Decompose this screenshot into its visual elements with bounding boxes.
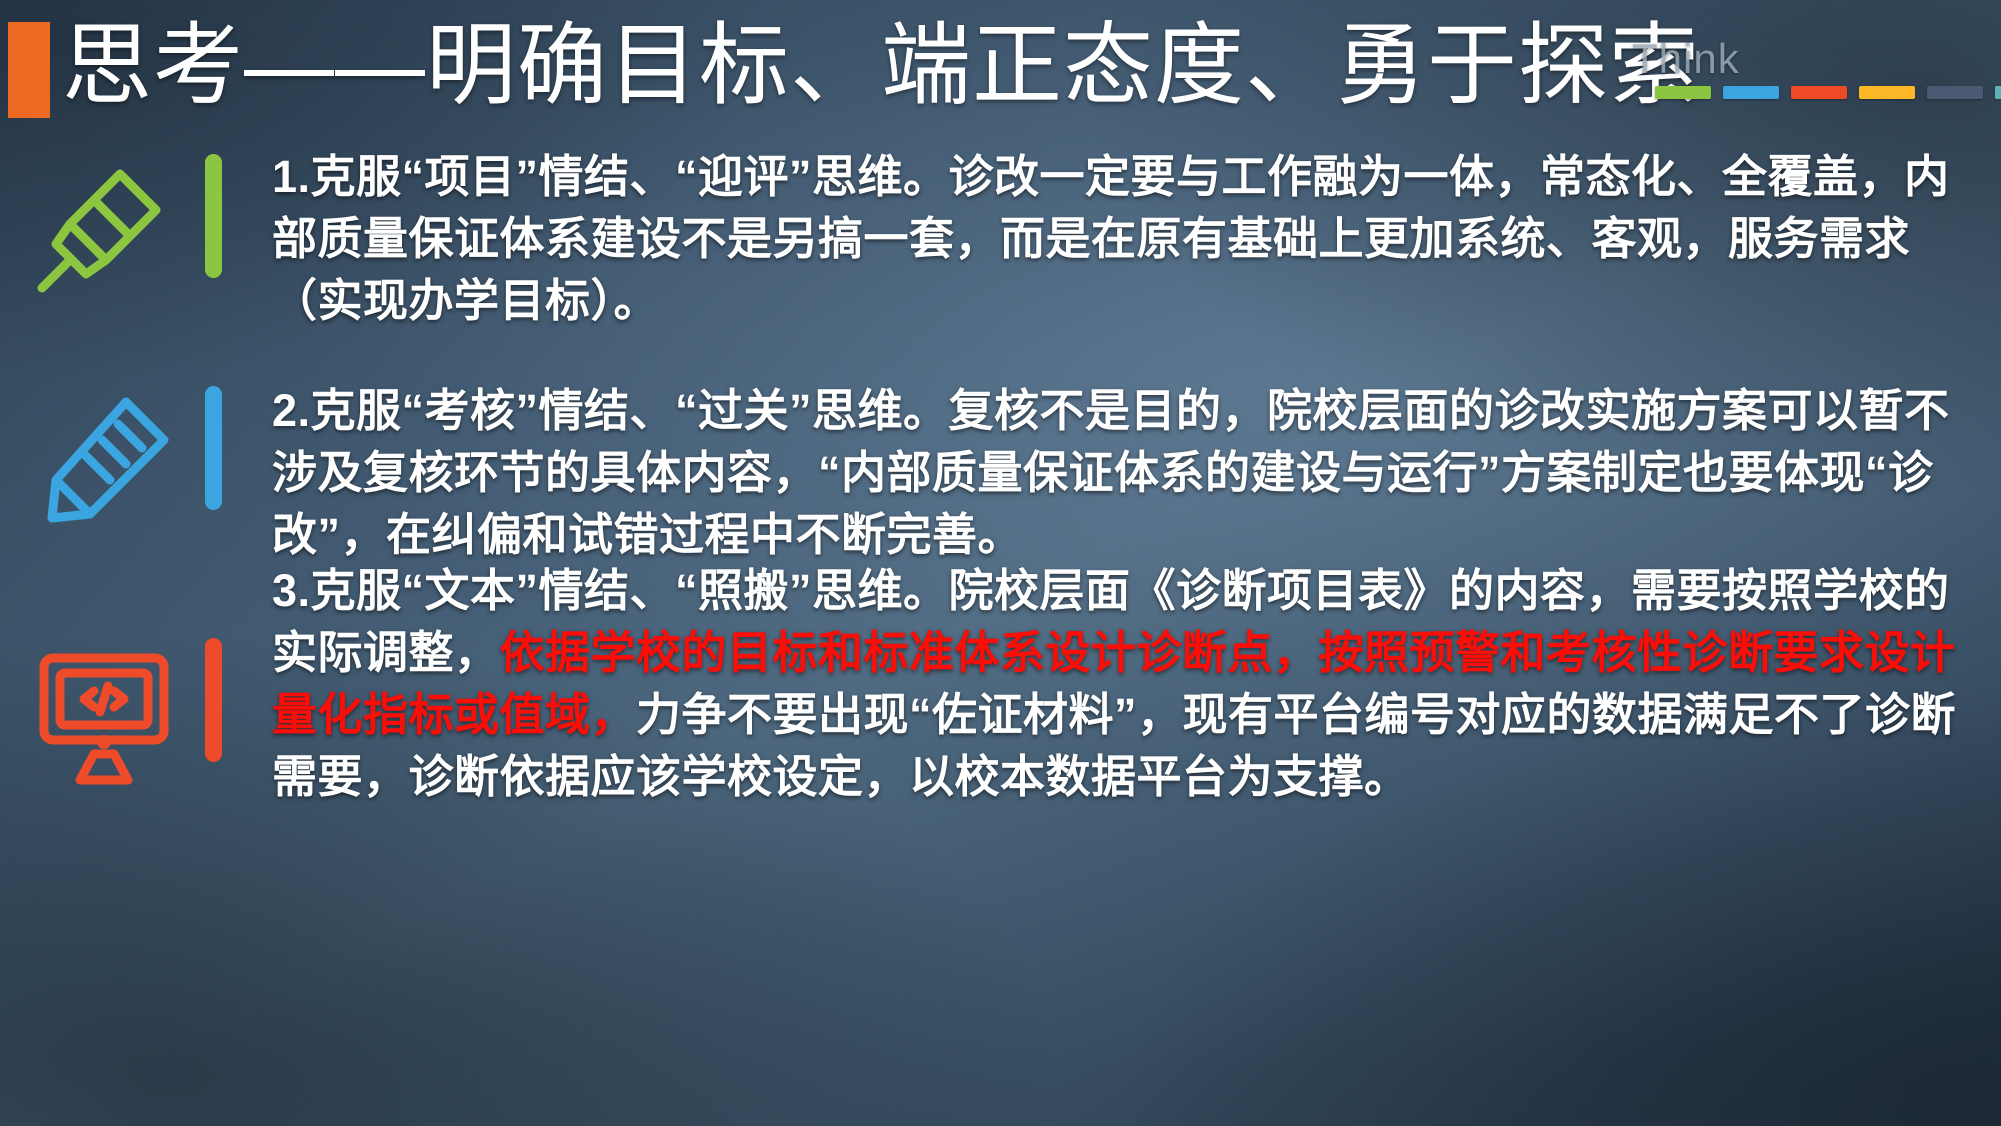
swatch-red: [1791, 86, 1847, 99]
accent-bar-1: [205, 154, 222, 278]
swatch-teal: [1995, 86, 2001, 99]
bullet-block-3: 3.克服“文本”情结、“照搬”思维。院校层面《诊断项目表》的内容，需要按照学校的…: [0, 560, 2001, 860]
pushpin-icon: [34, 156, 174, 296]
swatch-blue: [1723, 86, 1779, 99]
swatch-yellow: [1859, 86, 1915, 99]
bullet-text-1: 1.克服“项目”情结、“迎评”思维。诊改一定要与工作融为一体，常态化、全覆盖，内…: [272, 146, 1972, 332]
accent-bar-3: [205, 638, 222, 762]
swatch-green: [1655, 86, 1711, 99]
bullet-block-2: 2.克服“考核”情结、“过关”思维。复核不是目的，院校层面的诊改实施方案可以暂不…: [0, 360, 2001, 560]
code-monitor-icon: [34, 642, 174, 782]
slide: 思考——明确目标、端正态度、勇于探索 Think: [0, 0, 2001, 1126]
color-swatch-strip: [1655, 86, 2001, 99]
swatch-slate: [1927, 86, 1983, 99]
title-accent-bar: [8, 22, 50, 118]
accent-bar-2: [205, 386, 222, 510]
slide-header: 思考——明确目标、端正态度、勇于探索 Think: [0, 0, 2001, 132]
bullet-text-3: 3.克服“文本”情结、“照搬”思维。院校层面《诊断项目表》的内容，需要按照学校的…: [272, 560, 1972, 808]
slide-body: 1.克服“项目”情结、“迎评”思维。诊改一定要与工作融为一体，常态化、全覆盖，内…: [0, 132, 2001, 1126]
page-title: 思考——明确目标、端正态度、勇于探索: [62, 14, 1700, 118]
bullet-text-2: 2.克服“考核”情结、“过关”思维。复核不是目的，院校层面的诊改实施方案可以暂不…: [272, 380, 1972, 566]
bullet-block-1: 1.克服“项目”情结、“迎评”思维。诊改一定要与工作融为一体，常态化、全覆盖，内…: [0, 132, 2001, 332]
think-watermark-label: Think: [1632, 36, 1740, 82]
pencil-icon: [34, 390, 174, 530]
